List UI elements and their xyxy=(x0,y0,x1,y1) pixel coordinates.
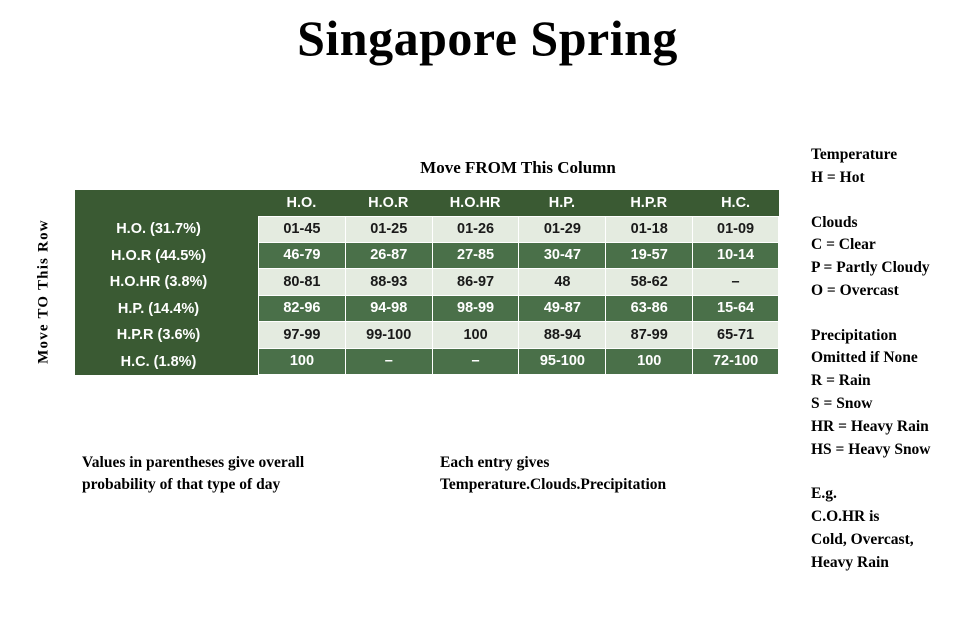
matrix-row-label: H.O.HR (3.8%) xyxy=(75,269,258,296)
matrix-cell: 94-98 xyxy=(345,296,432,323)
matrix-cell: 98-99 xyxy=(432,296,519,323)
page-title: Singapore Spring xyxy=(0,12,975,65)
matrix-header-row: H.O.H.O.RH.O.HRH.P.H.P.RH.C. xyxy=(75,190,779,216)
matrix-cell: 01-25 xyxy=(345,216,432,243)
matrix-cell: 82-96 xyxy=(258,296,345,323)
matrix-cell: 80-81 xyxy=(258,269,345,296)
legend-block-clouds: Clouds C = Clear P = Partly Cloudy O = O… xyxy=(811,212,975,303)
matrix-row: H.C. (1.8%)100––95-10010072-100 xyxy=(75,349,779,376)
matrix-row: H.O. (31.7%)01-4501-2501-2601-2901-1801-… xyxy=(75,216,779,243)
matrix-cell: 48 xyxy=(518,269,605,296)
legend-heading-temperature: Temperature xyxy=(811,144,975,167)
matrix-cell: 88-93 xyxy=(345,269,432,296)
legend-heading-clouds: Clouds xyxy=(811,212,975,235)
matrix-cell: 26-87 xyxy=(345,243,432,270)
matrix-row: H.O.R (44.5%)46-7926-8727-8530-4719-5710… xyxy=(75,243,779,270)
matrix-cell: 19-57 xyxy=(605,243,692,270)
matrix-col-header: H.O.HR xyxy=(432,190,519,216)
matrix-cell: 87-99 xyxy=(605,322,692,349)
legend-entry-precipitation-4: HS = Heavy Snow xyxy=(811,439,975,462)
matrix-cell: 97-99 xyxy=(258,322,345,349)
matrix-cell: 49-87 xyxy=(518,296,605,323)
legend-entry-precipitation-1: R = Rain xyxy=(811,370,975,393)
matrix-cell: 100 xyxy=(432,322,519,349)
matrix-cell: 46-79 xyxy=(258,243,345,270)
legend-block-temperature: Temperature H = Hot xyxy=(811,144,975,190)
legend-entry-precipitation-0: Omitted if None xyxy=(811,347,975,370)
legend-entry-clouds-2: O = Overcast xyxy=(811,280,975,303)
legend-block-example: E.g. C.O.HR is Cold, Overcast, Heavy Rai… xyxy=(811,483,975,574)
transition-matrix-table: H.O.H.O.RH.O.HRH.P.H.P.RH.C. H.O. (31.7%… xyxy=(75,190,779,375)
matrix-cell: 95-100 xyxy=(518,349,605,376)
legend-entry-clouds-0: C = Clear xyxy=(811,234,975,257)
matrix-cell: 86-97 xyxy=(432,269,519,296)
legend: Temperature H = Hot Clouds C = Clear P =… xyxy=(811,144,975,575)
note-right: Each entry gives Temperature.Clouds.Prec… xyxy=(440,452,770,497)
legend-entry-temperature-0: H = Hot xyxy=(811,167,975,190)
matrix-cell: 58-62 xyxy=(605,269,692,296)
note-right-line-1: Each entry gives xyxy=(440,452,770,474)
legend-heading-precipitation: Precipitation xyxy=(811,325,975,348)
matrix-cell: 01-18 xyxy=(605,216,692,243)
matrix-cell: 01-09 xyxy=(692,216,779,243)
matrix-col-header: H.O. xyxy=(258,190,345,216)
note-right-line-2: Temperature.Clouds.Precipitation xyxy=(440,474,770,496)
matrix-cell: 01-45 xyxy=(258,216,345,243)
slide-canvas: Singapore Spring Move FROM This Column M… xyxy=(0,0,975,626)
matrix-header: H.O.H.O.RH.O.HRH.P.H.P.RH.C. xyxy=(75,190,779,216)
legend-entry-example-2: Heavy Rain xyxy=(811,552,975,575)
matrix-col-header: H.P. xyxy=(518,190,605,216)
legend-entry-clouds-1: P = Partly Cloudy xyxy=(811,257,975,280)
matrix-cell: 01-29 xyxy=(518,216,605,243)
matrix-cell: – xyxy=(345,349,432,376)
matrix-col-header: H.O.R xyxy=(345,190,432,216)
matrix-row-label: H.C. (1.8%) xyxy=(75,349,258,376)
matrix-cell: 01-26 xyxy=(432,216,519,243)
matrix-row-label: H.P. (14.4%) xyxy=(75,296,258,323)
matrix-cell: 63-86 xyxy=(605,296,692,323)
matrix-col-header: H.C. xyxy=(692,190,779,216)
legend-entry-example-1: Cold, Overcast, xyxy=(811,529,975,552)
matrix-cell: 100 xyxy=(605,349,692,376)
matrix-cell: 88-94 xyxy=(518,322,605,349)
matrix-cell: 10-14 xyxy=(692,243,779,270)
matrix-cell: 27-85 xyxy=(432,243,519,270)
matrix-body: H.O. (31.7%)01-4501-2501-2601-2901-1801-… xyxy=(75,216,779,375)
matrix-row-label: H.O.R (44.5%) xyxy=(75,243,258,270)
note-left-line-2: probability of that type of day xyxy=(82,474,412,496)
matrix-cell: 65-71 xyxy=(692,322,779,349)
matrix-cell: 99-100 xyxy=(345,322,432,349)
legend-entry-example-0: C.O.HR is xyxy=(811,506,975,529)
legend-heading-example: E.g. xyxy=(811,483,975,506)
matrix-cell: – xyxy=(692,269,779,296)
matrix-cell: – xyxy=(432,349,519,376)
note-left: Values in parentheses give overall proba… xyxy=(82,452,412,497)
matrix-corner-cell xyxy=(75,190,258,216)
note-left-line-1: Values in parentheses give overall xyxy=(82,452,412,474)
column-axis-caption: Move FROM This Column xyxy=(258,158,778,178)
legend-block-precipitation: Precipitation Omitted if None R = Rain S… xyxy=(811,325,975,462)
matrix-row: H.O.HR (3.8%)80-8188-9386-974858-62– xyxy=(75,269,779,296)
row-axis-caption: Move TO This Row xyxy=(36,202,53,382)
matrix-row: H.P.R (3.6%)97-9999-10010088-9487-9965-7… xyxy=(75,322,779,349)
matrix-row-label: H.P.R (3.6%) xyxy=(75,322,258,349)
matrix-cell: 100 xyxy=(258,349,345,376)
legend-entry-precipitation-3: HR = Heavy Rain xyxy=(811,416,975,439)
matrix-cell: 15-64 xyxy=(692,296,779,323)
matrix-col-header: H.P.R xyxy=(605,190,692,216)
matrix-row-label: H.O. (31.7%) xyxy=(75,216,258,243)
legend-entry-precipitation-2: S = Snow xyxy=(811,393,975,416)
transition-matrix: H.O.H.O.RH.O.HRH.P.H.P.RH.C. H.O. (31.7%… xyxy=(75,190,779,375)
matrix-cell: 72-100 xyxy=(692,349,779,376)
matrix-cell: 30-47 xyxy=(518,243,605,270)
matrix-row: H.P. (14.4%)82-9694-9898-9949-8763-8615-… xyxy=(75,296,779,323)
